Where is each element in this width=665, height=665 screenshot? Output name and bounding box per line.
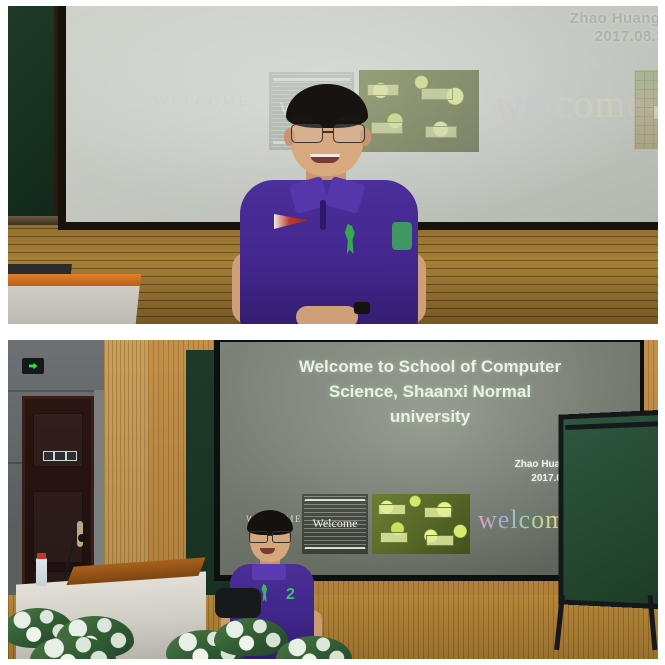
wordcloud-bar-top <box>273 78 350 81</box>
mosaic-mini-sign <box>426 535 454 546</box>
slide-title-line-1: Welcome to School of Computer <box>232 354 628 379</box>
photo-welcome-sign: WELCOME <box>653 105 658 120</box>
lens-right <box>333 124 365 143</box>
mosaic-mini-sign <box>421 88 453 100</box>
lock-segment <box>44 452 53 460</box>
presenter-hair <box>286 84 368 128</box>
eyeglasses-icon <box>290 124 366 142</box>
door-lock-plate[interactable] <box>43 451 77 461</box>
podium-top-photo <box>8 274 141 324</box>
mosaic-mini-sign <box>380 532 408 543</box>
chalkboard-stand-legs <box>553 595 658 650</box>
stand-leg <box>648 595 658 650</box>
lock-segment <box>67 452 76 460</box>
credit-name: Zhao Huang, <box>570 10 658 28</box>
credit-date: 2017.08.3 <box>570 28 658 46</box>
lock-segment <box>55 452 64 460</box>
chalk-tray <box>8 216 62 225</box>
presenter-shirt-placket <box>320 200 326 230</box>
presenter-clasped-hands <box>296 306 358 324</box>
presenter-eyebrow-left <box>292 118 314 121</box>
lens-right <box>272 531 291 543</box>
stand-leg <box>554 595 565 650</box>
presenter-smile <box>310 154 340 163</box>
campus-photo-panel: WELCOME <box>634 70 658 150</box>
photo-top-presenter-closeup: Zhao Huang, 2017.08.3 WELCOME Welcome <box>8 6 658 324</box>
photo-collage: Zhao Huang, 2017.08.3 WELCOME Welcome <box>0 0 665 665</box>
mosaic-mini-sign <box>378 504 406 515</box>
lens-left <box>291 124 323 143</box>
water-bottle <box>36 558 47 586</box>
wristwatch-icon <box>354 302 370 314</box>
wordcloud-bar-top <box>305 499 365 501</box>
bottle-cap <box>37 553 46 559</box>
chalkboard-left <box>8 6 61 224</box>
rainbow-welcome-text: welcome <box>494 84 645 124</box>
podium-wood-top <box>8 274 141 286</box>
lens-left <box>249 531 268 543</box>
presenter-eyebrow-right <box>338 118 360 121</box>
mosaic-mini-sign <box>424 507 452 518</box>
photo-bottom-wide-lecture-hall: Welcome to School of Computer Science, S… <box>8 340 658 659</box>
sleeve-patch <box>392 222 412 250</box>
backpack <box>215 588 261 618</box>
presenter-top <box>234 84 424 324</box>
presenter-collar <box>252 564 286 580</box>
slide-title-line-2: Science, Shaanxi Normal <box>232 379 628 404</box>
slide-credit-top: Zhao Huang, 2017.08.3 <box>570 10 658 46</box>
camouflage-hat <box>214 618 288 656</box>
exit-arrow-glyph <box>29 362 38 371</box>
sleeve-number: 2 <box>286 586 295 604</box>
eyeglasses-icon <box>249 531 291 542</box>
chalkboard-top-rail <box>565 420 658 430</box>
mosaic-mini-sign <box>425 126 457 138</box>
chalkboard-on-stand <box>559 409 658 610</box>
green-bokeh-panel <box>372 494 470 554</box>
microphone-icon <box>78 534 86 542</box>
exit-sign-icon <box>22 358 44 374</box>
